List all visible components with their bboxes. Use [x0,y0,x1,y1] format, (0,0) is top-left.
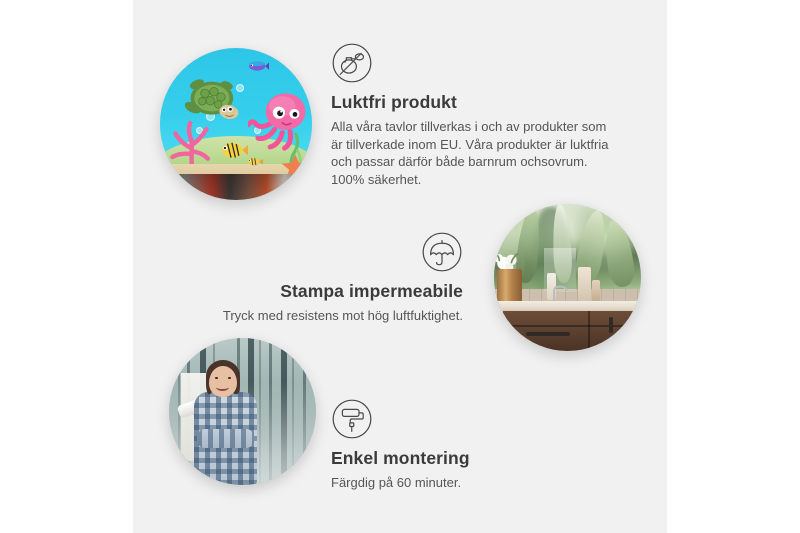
wooden-vanity [503,311,641,351]
feature-description: Alla våra tavlor tillverkas i och av pro… [331,118,616,188]
feature-description: Tryck med resistens mot hög luftfuktighe… [178,307,463,325]
feature-title: Stampa impermeabile [178,281,463,302]
product-feature-infographic: Luktfri produkt Alla våra tavlor tillver… [0,0,800,533]
feature-title: Enkel montering [331,448,616,469]
feature-block-waterproof: Stampa impermeabile Tryck med resistens … [178,231,463,325]
person-face [209,366,237,397]
feature-title: Luktfri produkt [331,92,616,113]
room-photo-strip [160,174,312,200]
feature-block-odorless: Luktfri produkt Alla våra tavlor tillver… [331,42,616,188]
feature-block-easy-assembly: Enkel montering Färgdig på 60 minuter. [331,398,616,492]
woman-paint-roller-forest-circle-image [169,338,316,485]
bathroom-tropical-wallpaper-circle-image [494,204,641,351]
paint-roller-icon [331,398,373,440]
vanity-seam [503,325,641,327]
umbrella-icon [421,231,463,273]
cabinet-handle [609,317,613,333]
toiletry-bottle [592,280,599,302]
underwater-cartoon-circle-image [160,48,312,200]
person-arms [197,429,254,448]
drawer-handle [526,332,570,336]
fish-icon [218,138,248,162]
vanity-seam [588,311,590,351]
toiletry-bottle [578,267,591,302]
no-odor-spray-bottle-icon [331,42,373,84]
coral-icon [168,118,220,164]
fish-icon [245,57,269,75]
fish-icon [245,154,263,169]
feature-description: Färgdig på 60 minuter. [331,474,616,492]
